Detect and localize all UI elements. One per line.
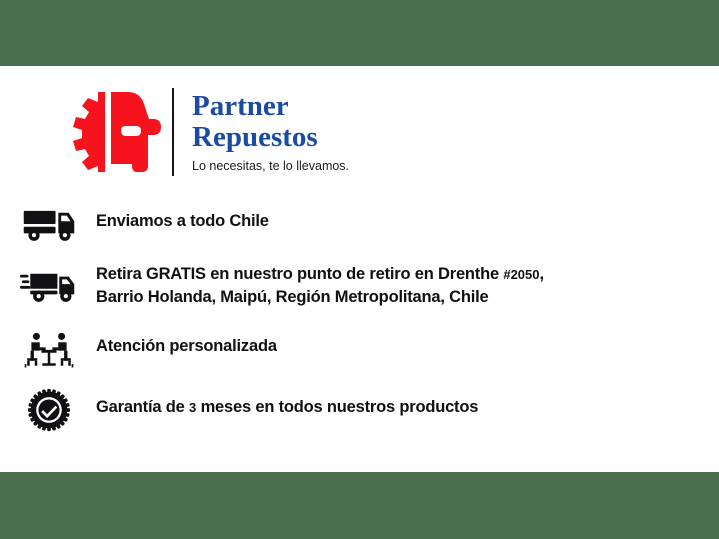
feature-pickup-line-2: Barrio Holanda, Maipú, Región Metropolit… [96, 286, 544, 308]
feature-item-pickup: Retira GRATIS en nuestro punto de retiro… [18, 263, 544, 308]
gear-car-logo-icon [58, 86, 166, 178]
feature-item-warranty: Garantía de 3 meses en todos nuestros pr… [18, 388, 478, 432]
logo-wordmark: Partner Repuestos Lo necesitas, te lo ll… [192, 91, 349, 173]
fast-truck-icon [18, 263, 80, 307]
top-green-band [0, 0, 719, 66]
feature-pickup-line-1: Retira GRATIS en nuestro punto de retiro… [96, 263, 544, 286]
brand-tagline: Lo necesitas, te lo llevamos. [192, 159, 349, 173]
promo-banner: Partner Repuestos Lo necesitas, te lo ll… [0, 0, 719, 539]
feature-label-attention: Atención personalizada [96, 327, 277, 357]
feature-label-warranty: Garantía de 3 meses en todos nuestros pr… [96, 388, 478, 419]
brand-name-line-2: Repuestos [192, 122, 349, 153]
banner-content: Partner Repuestos Lo necesitas, te lo ll… [0, 66, 719, 472]
bottom-green-band [0, 472, 719, 539]
people-at-table-icon [18, 327, 80, 371]
logo-divider [172, 88, 174, 176]
delivery-truck-icon [18, 202, 80, 246]
guarantee-badge-check-icon [18, 388, 80, 432]
brand-name-line-1: Partner [192, 91, 349, 122]
feature-item-shipping: Enviamos a todo Chile [18, 202, 269, 246]
feature-label-pickup: Retira GRATIS en nuestro punto de retiro… [96, 263, 544, 308]
feature-item-attention: Atención personalizada [18, 327, 277, 371]
brand-logo: Partner Repuestos Lo necesitas, te lo ll… [58, 86, 349, 178]
feature-label-shipping: Enviamos a todo Chile [96, 202, 269, 232]
